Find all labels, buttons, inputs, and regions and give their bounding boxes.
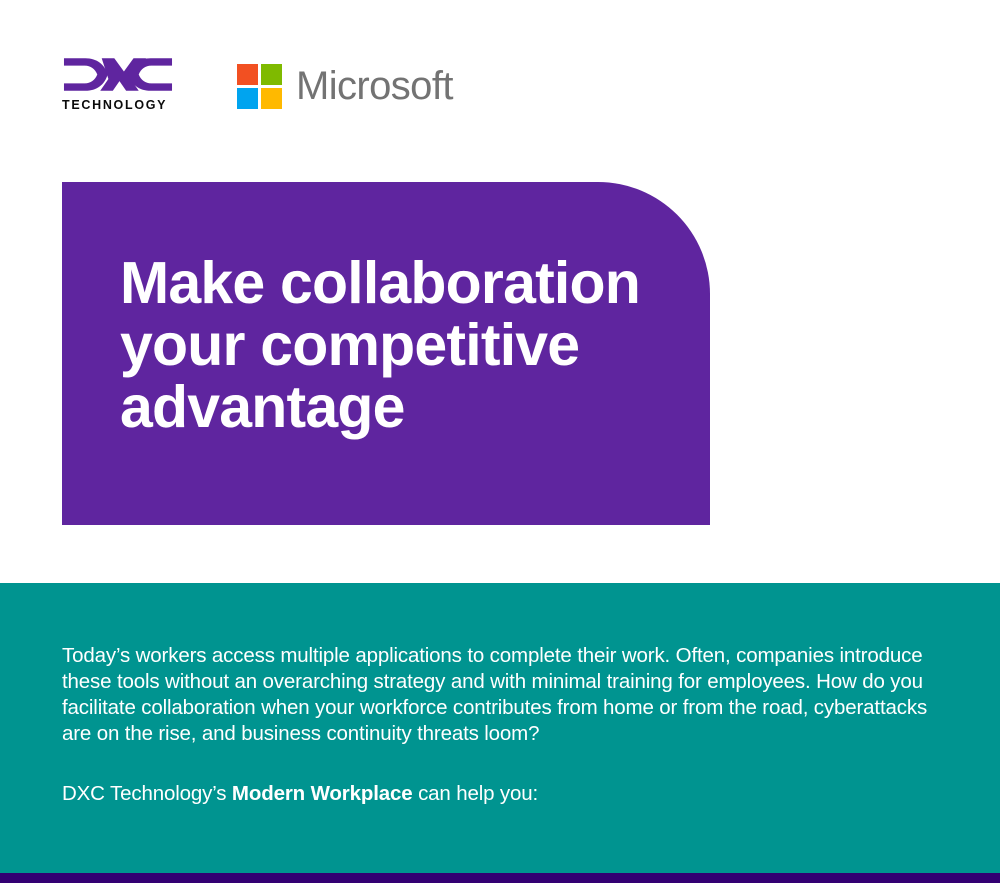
microsoft-wordmark: Microsoft xyxy=(296,64,453,108)
logo-row: TECHNOLOGY Microsoft xyxy=(0,0,1000,170)
microsoft-squares-icon xyxy=(237,64,282,109)
microsoft-square-green xyxy=(261,64,282,85)
cta-emphasis: Modern Workplace xyxy=(232,782,413,805)
microsoft-square-blue xyxy=(237,88,258,109)
microsoft-square-yellow xyxy=(261,88,282,109)
dxc-technology-logo: TECHNOLOGY xyxy=(62,56,174,118)
marketing-page: TECHNOLOGY Microsoft Make collaboration … xyxy=(0,0,1000,883)
cta-line: DXC Technology’s Modern Workplace can he… xyxy=(62,781,947,807)
hero-headline: Make collaboration your competitive adva… xyxy=(120,252,690,438)
microsoft-square-red xyxy=(237,64,258,85)
dxc-mark-icon xyxy=(62,56,174,93)
bottom-accent-bar xyxy=(0,873,1000,883)
dxc-wordmark: TECHNOLOGY xyxy=(62,98,174,112)
intro-section: Today’s workers access multiple applicat… xyxy=(0,583,1000,873)
intro-section-body: Today’s workers access multiple applicat… xyxy=(62,643,947,807)
cta-prefix: DXC Technology’s xyxy=(62,782,232,805)
hero-banner: Make collaboration your competitive adva… xyxy=(62,182,710,525)
intro-paragraph: Today’s workers access multiple applicat… xyxy=(62,643,947,747)
microsoft-logo: Microsoft xyxy=(237,61,453,111)
cta-suffix: can help you: xyxy=(413,782,539,805)
